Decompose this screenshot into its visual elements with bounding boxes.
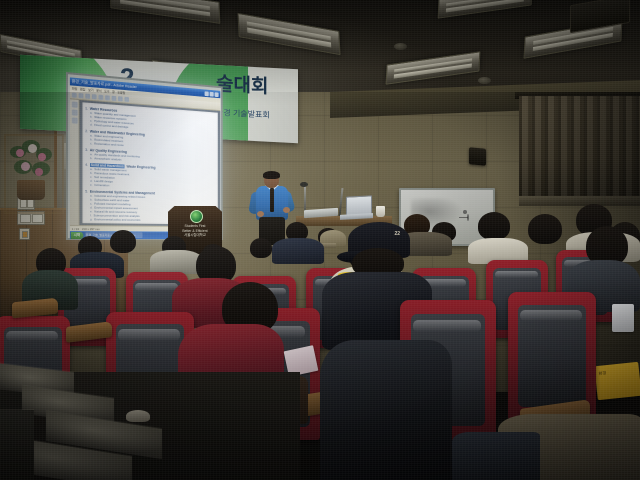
- audience-head: [250, 238, 272, 258]
- smoke-detector: [394, 43, 407, 50]
- attendee-shoe: [126, 410, 150, 422]
- cap-logo: 22: [395, 231, 401, 237]
- audience-trousers: [452, 432, 540, 480]
- presenter-hair: [263, 171, 280, 179]
- paper-cup: [376, 206, 385, 217]
- audience-shoulders: [150, 250, 202, 274]
- audience-jacket: [320, 340, 452, 480]
- audience-head: [478, 212, 510, 240]
- white-handheld-device[interactable]: [612, 304, 634, 332]
- audience-head: [110, 230, 136, 253]
- podium-text: Students First Better & Efficient 서울시립대학…: [174, 224, 216, 238]
- microphone: [300, 182, 308, 187]
- program-book-label: 환경: [598, 371, 606, 378]
- university-emblem-icon: [190, 210, 203, 223]
- presenter-right-hand: [283, 207, 290, 213]
- audience-hat: [320, 230, 346, 246]
- audience-head: [528, 214, 562, 244]
- yellow-program-book[interactable]: 환경: [594, 362, 640, 400]
- lecture-hall-photo: 2 술대회 일시 환경 기술발표회 환경_기술_발표자료.pdf - Adobe…: [0, 0, 640, 480]
- aisle-step-riser: [0, 410, 34, 480]
- audience-shoulders: [272, 238, 324, 264]
- presenter-tie: [270, 188, 274, 212]
- smoke-detector: [478, 77, 491, 84]
